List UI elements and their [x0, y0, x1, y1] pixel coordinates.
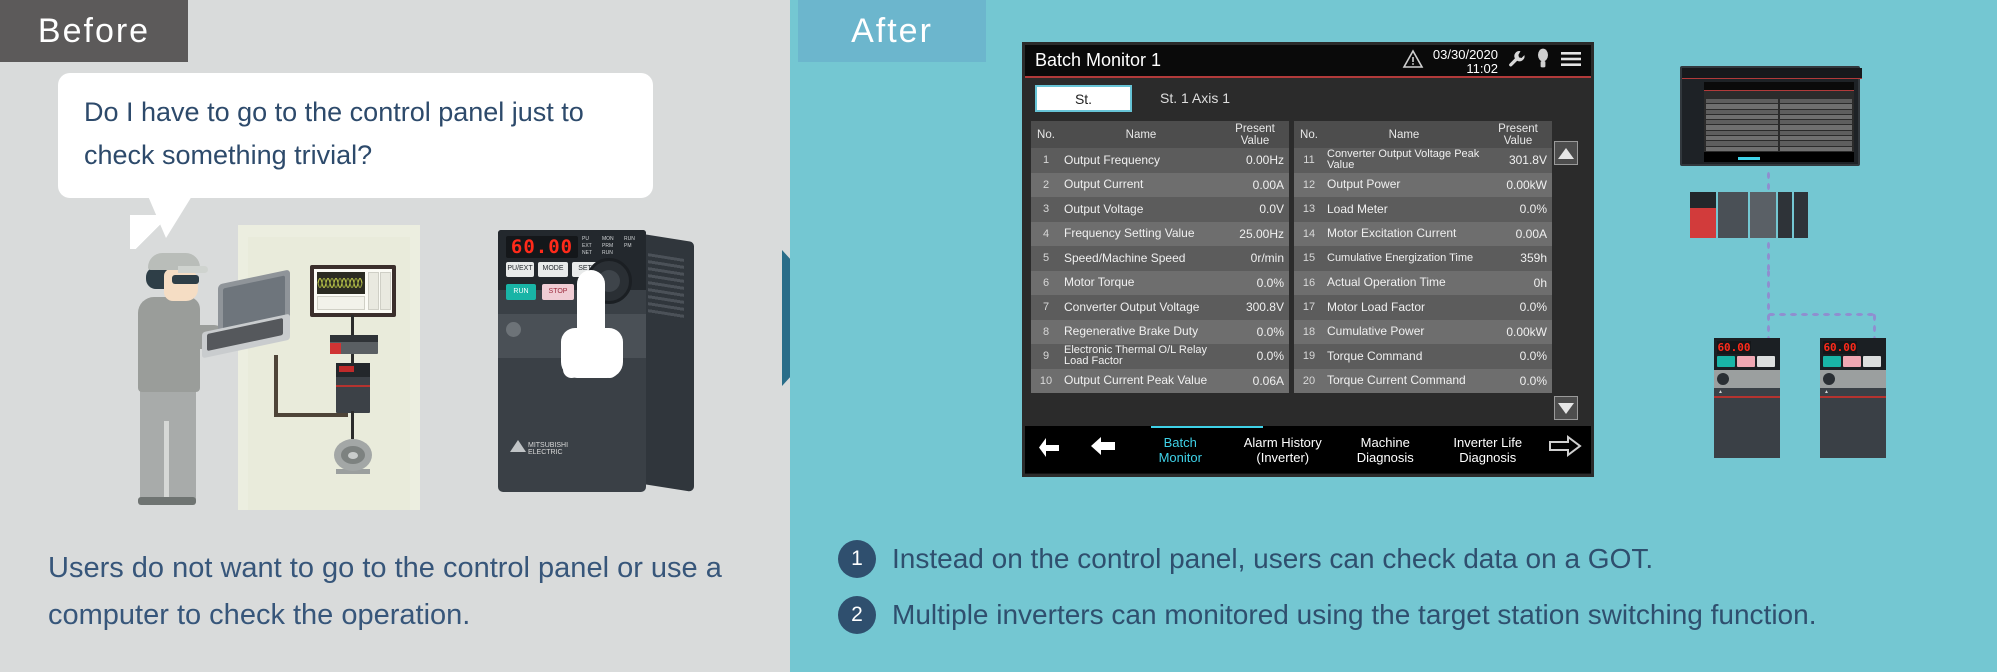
figure-face — [164, 269, 198, 301]
got-mini-col-right — [1780, 99, 1852, 157]
row-name: Speed/Machine Speed — [1061, 253, 1221, 265]
tab-batch-monitor[interactable]: Batch Monitor — [1129, 435, 1232, 465]
after-bullet-list: 1 Instead on the control panel, users ca… — [838, 540, 1988, 652]
field-inverter-1: 60.00 ▲ — [1714, 338, 1780, 458]
inverter-2-buttons — [1823, 356, 1881, 367]
bullet-text-1: Instead on the control panel, users can … — [892, 543, 1653, 575]
got-hmi-device — [1680, 66, 1860, 166]
got-mini-title-bar — [1704, 82, 1854, 91]
got-mini-row — [1780, 104, 1852, 108]
row-name: Motor Torque — [1061, 277, 1221, 289]
table-row[interactable]: 6Motor Torque0.0% — [1031, 271, 1289, 296]
table-row[interactable]: 16Actual Operation Time0h — [1294, 271, 1552, 296]
connection-dots-3 — [1766, 268, 1771, 316]
got-mini-row — [1780, 120, 1852, 124]
next-arrow-icon[interactable] — [1539, 435, 1591, 464]
got-mini-table-grid — [1706, 99, 1852, 157]
laptop-cable-horizontal — [274, 413, 348, 417]
got-mini-nav-bar — [1704, 152, 1854, 162]
warning-triangle-icon[interactable] — [1402, 49, 1424, 74]
table-row[interactable]: 17Motor Load Factor0.0% — [1294, 295, 1552, 320]
got-time: 11:02 — [1466, 61, 1498, 76]
inverter-to-motor-cable — [351, 411, 354, 439]
mitsubishi-logo-icon — [510, 440, 526, 452]
panel-monitor-col-2 — [380, 272, 391, 310]
got-mini-row — [1780, 147, 1852, 151]
got-mini-row — [1780, 131, 1852, 135]
field-inverter-2: 60.00 ▲ — [1820, 338, 1886, 458]
got-monitor-table-area: No. Name Present Value 1Output Frequency… — [1025, 118, 1591, 426]
row-number: 4 — [1031, 228, 1061, 240]
plc-io-module — [1750, 192, 1776, 238]
table-row[interactable]: 7Converter Output Voltage300.8V — [1031, 295, 1289, 320]
pointing-hand — [555, 270, 629, 378]
row-present-value: 0.0% — [1484, 374, 1552, 388]
row-name: Actual Operation Time — [1324, 277, 1484, 289]
row-number: 11 — [1294, 154, 1324, 166]
table-body-right: 11Converter Output Voltage Peak Value301… — [1294, 148, 1552, 393]
row-present-value: 0.0% — [1221, 325, 1289, 339]
row-number: 2 — [1031, 179, 1061, 191]
row-name: Output Frequency — [1061, 155, 1221, 167]
row-name: Output Power — [1324, 179, 1484, 191]
got-mini-row — [1780, 110, 1852, 114]
plc-unit-top — [330, 335, 378, 342]
table-row[interactable]: 5Speed/Machine Speed0r/min — [1031, 246, 1289, 271]
col-header-no: No. — [1031, 129, 1061, 141]
table-row[interactable]: 10Output Current Peak Value0.06A — [1031, 369, 1289, 394]
lightbulb-icon[interactable] — [1536, 48, 1550, 75]
station-select-button[interactable]: St. — [1035, 85, 1132, 112]
hand-knuckle-1 — [563, 334, 580, 378]
figure-glasses — [172, 275, 199, 284]
inverter-1-dial[interactable] — [1717, 373, 1729, 385]
row-present-value: 25.00Hz — [1221, 227, 1289, 241]
row-number: 3 — [1031, 203, 1061, 215]
inverter-1-run-button[interactable] — [1717, 356, 1735, 367]
room-corner-shadow — [130, 215, 176, 249]
row-name: Torque Command — [1324, 351, 1484, 363]
inverter-run-button[interactable]: RUN — [506, 284, 536, 300]
plc-terminal-2 — [1794, 192, 1808, 238]
table-row[interactable]: 12Output Power0.00kW — [1294, 173, 1552, 198]
got-mini-row — [1706, 141, 1778, 145]
row-present-value: 0.0% — [1221, 349, 1289, 363]
row-name: Output Current — [1061, 179, 1221, 191]
connection-dots-inv2 — [1872, 312, 1877, 340]
laptop — [202, 277, 294, 355]
tab-machine-diagnosis[interactable]: Machine Diagnosis — [1334, 435, 1437, 465]
got-screen-title: Batch Monitor 1 — [1025, 50, 1161, 71]
table-row[interactable]: 18Cumulative Power0.00kW — [1294, 320, 1552, 345]
connection-dots-inv1 — [1766, 312, 1771, 340]
row-number: 20 — [1294, 375, 1324, 387]
scroll-controls — [1552, 121, 1582, 426]
inverter-screw — [506, 322, 521, 337]
got-device-bezel-top — [1682, 68, 1862, 78]
table-row[interactable]: 11Converter Output Voltage Peak Value301… — [1294, 148, 1552, 173]
panel-monitor-data-rows — [317, 296, 365, 310]
row-name: Converter Output Voltage Peak Value — [1324, 149, 1484, 172]
bullet-item-2: 2 Multiple inverters can monitored using… — [838, 596, 1988, 634]
row-name: Electronic Thermal O/L Relay Load Factor — [1061, 345, 1221, 368]
got-bottom-navigation: Batch Monitor Alarm History (Inverter) M… — [1025, 426, 1591, 473]
table-row[interactable]: 1Output Frequency0.00Hz — [1031, 148, 1289, 173]
row-name: Converter Output Voltage — [1061, 302, 1221, 314]
row-present-value: 359h — [1484, 251, 1552, 265]
speech-bubble-text: Do I have to go to the control panel jus… — [58, 73, 653, 176]
inverter-2-dial[interactable] — [1823, 373, 1835, 385]
tab-inverter-life-diagnosis[interactable]: Inverter Life Diagnosis — [1437, 435, 1540, 465]
table-row[interactable]: 2Output Current0.00A — [1031, 173, 1289, 198]
got-mini-row — [1780, 141, 1852, 145]
got-mini-row — [1780, 99, 1852, 103]
panel-inverter-red-line — [336, 385, 370, 387]
got-device-screen: Batch Monitor 1 03/30/2020 11:02 — [1022, 42, 1594, 477]
panel-monitor-col-1 — [368, 272, 379, 310]
got-mini-col-left — [1706, 99, 1778, 157]
got-date: 03/30/2020 — [1433, 47, 1498, 62]
inverter-2-brand: ▲ — [1824, 389, 1829, 395]
row-present-value: 0.00A — [1484, 227, 1552, 241]
got-mini-row — [1706, 115, 1778, 119]
connection-dots-1 — [1766, 170, 1771, 194]
plc-rack-device — [1690, 192, 1810, 238]
row-number: 13 — [1294, 203, 1324, 215]
station-axis-label: St. 1 Axis 1 — [1160, 90, 1230, 106]
speech-bubble: Do I have to go to the control panel jus… — [58, 73, 653, 198]
got-mini-row — [1706, 131, 1778, 135]
inverter-2-stop-button[interactable] — [1843, 356, 1861, 367]
row-present-value: 0.00kW — [1484, 325, 1552, 339]
bullet-number-1: 1 — [838, 540, 876, 578]
row-present-value: 0.0% — [1221, 276, 1289, 290]
table-row[interactable]: 9Electronic Thermal O/L Relay Load Facto… — [1031, 344, 1289, 369]
row-number: 15 — [1294, 252, 1324, 264]
after-section-tag: After — [798, 0, 986, 62]
table-body-left: 1Output Frequency0.00Hz2Output Current0.… — [1031, 148, 1289, 393]
row-number: 1 — [1031, 154, 1061, 166]
panel-monitor-screen — [314, 269, 392, 313]
inverter-2-set-button[interactable] — [1863, 356, 1881, 367]
row-present-value: 0r/min — [1221, 251, 1289, 265]
inverter-2-display: 60.00 — [1823, 341, 1857, 354]
connection-dots-bus — [1766, 312, 1876, 317]
row-present-value: 0.00A — [1221, 178, 1289, 192]
scroll-down-icon[interactable] — [1554, 396, 1578, 420]
row-name: Output Current Peak Value — [1061, 375, 1221, 387]
row-present-value: 0.00Hz — [1221, 153, 1289, 167]
inverter-indicator-group-3: RUNPM — [624, 236, 635, 250]
table-row[interactable]: 3Output Voltage0.0V — [1031, 197, 1289, 222]
got-title-bar-right: 03/30/2020 11:02 — [1402, 45, 1583, 78]
table-row[interactable]: 14Motor Excitation Current0.00A — [1294, 222, 1552, 247]
row-number: 17 — [1294, 301, 1324, 313]
active-tab-underline — [1151, 426, 1263, 428]
col-header-name: Name — [1061, 129, 1221, 141]
inverter-led-display: 60.00 — [506, 236, 578, 258]
got-mini-row — [1706, 104, 1778, 108]
plc-power-top — [1690, 192, 1716, 208]
got-mini-row — [1706, 120, 1778, 124]
inverter-1-display: 60.00 — [1717, 341, 1751, 354]
got-datetime: 03/30/2020 11:02 — [1433, 48, 1498, 76]
row-name: Cumulative Power — [1324, 326, 1484, 338]
row-number: 18 — [1294, 326, 1324, 338]
scroll-up-icon[interactable] — [1554, 141, 1578, 165]
tab-alarm-history-inverter[interactable]: Alarm History (Inverter) — [1232, 435, 1335, 465]
inverter-1-buttons — [1717, 356, 1775, 367]
plc-power-module — [330, 343, 341, 354]
col-header-no: No. — [1294, 129, 1324, 141]
inverter-indicator-group-2: MONPRMRUN — [602, 236, 614, 257]
laptop-cable-vertical — [274, 355, 278, 415]
inverter-1-stop-button[interactable] — [1737, 356, 1755, 367]
row-number: 19 — [1294, 350, 1324, 362]
inverter-vent — [648, 253, 684, 321]
before-section-tag: Before — [0, 0, 188, 62]
row-present-value: 301.8V — [1484, 153, 1552, 167]
table-header-left: No. Name Present Value — [1031, 121, 1289, 148]
row-present-value: 0.0% — [1484, 202, 1552, 216]
inverter-brand-label: MITSUBISHI ELECTRIC — [528, 442, 598, 464]
row-present-value: 0.0% — [1484, 349, 1552, 363]
monitor-table-left: No. Name Present Value 1Output Frequency… — [1031, 121, 1289, 426]
figure-cap-brim — [178, 266, 208, 273]
col-header-present-value: Present Value — [1484, 123, 1552, 147]
table-row[interactable]: 19Torque Command0.0% — [1294, 344, 1552, 369]
panel-inverter-display — [339, 366, 354, 372]
got-station-bar: St. St. 1 Axis 1 — [1025, 78, 1591, 118]
plc-terminal-1 — [1778, 192, 1792, 238]
got-mini-row — [1706, 125, 1778, 129]
got-mini-row — [1706, 136, 1778, 140]
row-name: Regenerative Brake Duty — [1061, 326, 1221, 338]
control-panel-illustration — [130, 215, 460, 510]
got-title-bar: Batch Monitor 1 03/30/2020 11:02 — [1025, 45, 1591, 78]
col-header-present-value: Present Value — [1221, 123, 1289, 147]
row-present-value: 0.0V — [1221, 202, 1289, 216]
row-present-value: 300.8V — [1221, 300, 1289, 314]
row-name: Motor Excitation Current — [1324, 228, 1484, 240]
row-present-value: 0.0% — [1484, 300, 1552, 314]
got-mini-row — [1706, 147, 1778, 151]
row-present-value: 0h — [1484, 276, 1552, 290]
slide-root: Before Do I have to go to the control pa… — [0, 0, 1997, 672]
waveform-icon — [317, 272, 365, 294]
inverter-2-body — [1820, 388, 1886, 458]
row-name: Output Voltage — [1061, 204, 1221, 216]
row-name: Motor Load Factor — [1324, 302, 1484, 314]
inverter-1-brand: ▲ — [1718, 389, 1723, 395]
inverter-2-red-line — [1820, 396, 1886, 398]
table-row[interactable]: 4Frequency Setting Value25.00Hz — [1031, 222, 1289, 247]
row-name: Torque Current Command — [1324, 375, 1484, 387]
hand-knuckle-3 — [601, 334, 618, 378]
got-mini-row — [1706, 110, 1778, 114]
table-row[interactable]: 15Cumulative Energization Time359h — [1294, 246, 1552, 271]
got-mini-row — [1780, 125, 1852, 129]
before-panel: Before Do I have to go to the control pa… — [0, 0, 790, 672]
table-header-right: No. Name Present Value — [1294, 121, 1552, 148]
bullet-number-2: 2 — [838, 596, 876, 634]
before-caption: Users do not want to go to the control p… — [48, 545, 768, 639]
hamburger-menu-icon[interactable] — [1559, 49, 1583, 74]
row-number: 9 — [1031, 350, 1061, 362]
panel-monitor — [310, 265, 396, 317]
bullet-item-1: 1 Instead on the control panel, users ca… — [838, 540, 1988, 578]
row-number: 10 — [1031, 375, 1061, 387]
row-present-value: 0.00kW — [1484, 178, 1552, 192]
got-mini-active-tab — [1738, 157, 1760, 160]
bullet-text-2: Multiple inverters can monitored using t… — [892, 599, 1816, 631]
inverter-1-red-line — [1714, 396, 1780, 398]
row-number: 6 — [1031, 277, 1061, 289]
row-name: Load Meter — [1324, 204, 1484, 216]
back-arrow-icon[interactable] — [1025, 434, 1077, 465]
inverter-1-set-button[interactable] — [1757, 356, 1775, 367]
got-mini-row — [1780, 136, 1852, 140]
previous-arrow-icon[interactable] — [1077, 435, 1129, 464]
row-present-value: 0.06A — [1221, 374, 1289, 388]
got-mini-row — [1780, 115, 1852, 119]
row-number: 7 — [1031, 301, 1061, 313]
got-device-red-line — [1682, 78, 1862, 79]
row-name: Cumulative Energization Time — [1324, 253, 1484, 265]
row-number: 8 — [1031, 326, 1061, 338]
row-name: Frequency Setting Value — [1061, 228, 1221, 240]
table-row[interactable]: 8Regenerative Brake Duty0.0% — [1031, 320, 1289, 345]
col-header-name: Name — [1324, 129, 1484, 141]
figure-leg-split — [164, 421, 169, 503]
table-row[interactable]: 20Torque Current Command0.0% — [1294, 369, 1552, 394]
row-number: 12 — [1294, 179, 1324, 191]
row-number: 16 — [1294, 277, 1324, 289]
plc-cpu-module — [1718, 192, 1748, 238]
got-device-mini-screen — [1704, 82, 1854, 162]
inverter-indicator-group-1: PUEXTNET — [582, 236, 592, 257]
motor-hub — [348, 452, 358, 459]
connection-dots-2 — [1766, 240, 1771, 270]
motor — [332, 437, 374, 475]
row-number: 14 — [1294, 228, 1324, 240]
row-number: 5 — [1031, 252, 1061, 264]
got-mini-row — [1706, 99, 1778, 103]
figure-shoe — [138, 497, 196, 505]
wrench-icon[interactable] — [1507, 49, 1527, 74]
hand-knuckle-2 — [582, 334, 599, 378]
monitor-table-right: No. Name Present Value 11Converter Outpu… — [1294, 121, 1552, 426]
inverter-2-run-button[interactable] — [1823, 356, 1841, 367]
table-row[interactable]: 13Load Meter0.0% — [1294, 197, 1552, 222]
inverter-pu-ext-button[interactable]: PU/EXT — [506, 262, 534, 277]
inverter-1-body — [1714, 388, 1780, 458]
